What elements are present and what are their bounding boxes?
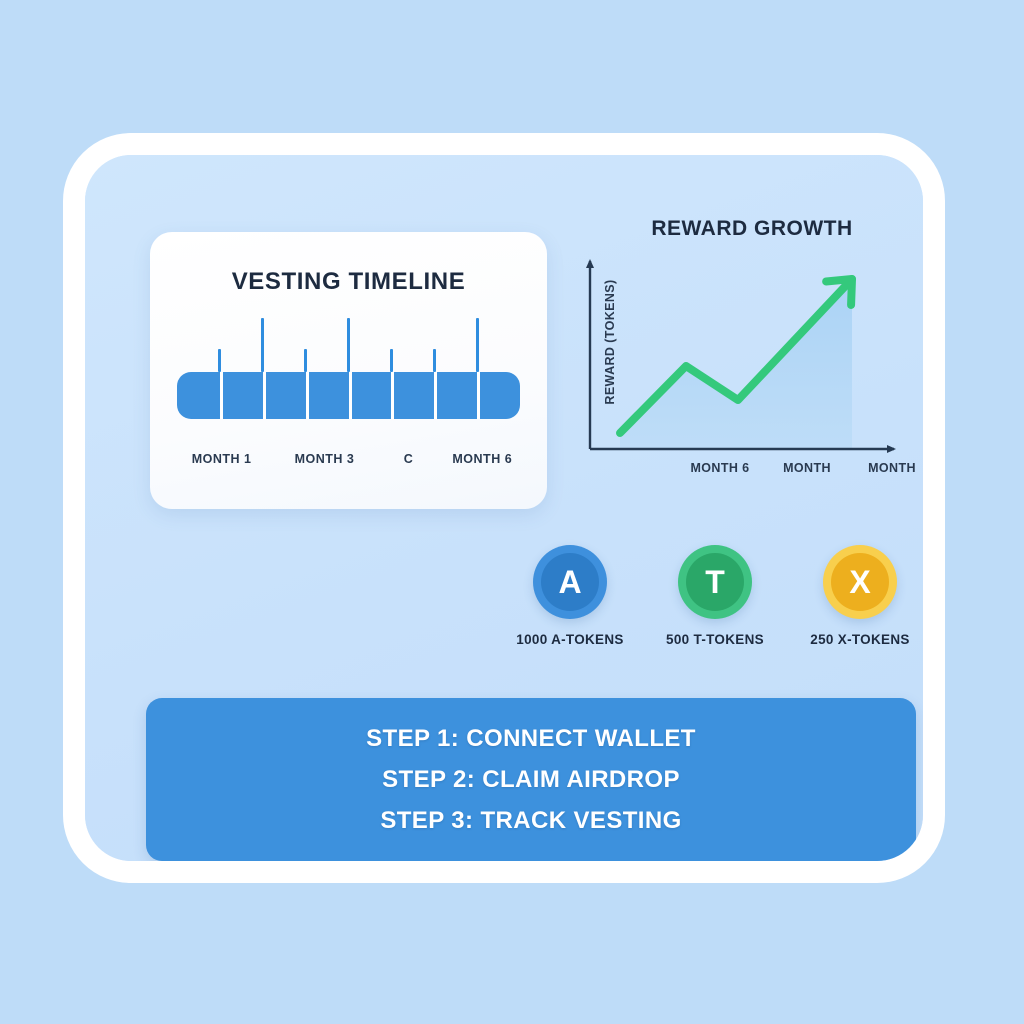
timeline-tick [218,349,221,372]
token-coin-x-icon: X [823,545,897,619]
steps-banner[interactable]: STEP 1: CONNECT WALLETSTEP 2: CLAIM AIRD… [146,698,916,861]
timeline-segment-divider [263,372,266,419]
timeline-tick [390,349,393,372]
timeline-bar [177,372,520,419]
step-line-3: STEP 3: TRACK VESTING [380,800,681,841]
token-glyph: X [831,553,889,611]
token-badge[interactable]: X250 X-TOKENS [790,545,923,647]
token-glyph: T [686,553,744,611]
token-glyph: A [541,553,599,611]
timeline-segment-divider [391,372,394,419]
token-label: 1000 A-TOKENS [516,632,623,647]
chart-x-tick-label: MONTH 6 [690,461,749,475]
vesting-timeline-card: VESTING TIMELINE MONTH 1MONTH 3CMONTH 6 [150,232,547,509]
timeline-month-label: MONTH 1 [192,452,252,466]
timeline-tick [347,318,350,372]
timeline-tick [476,318,479,372]
timeline-tick [261,318,264,372]
reward-growth-chart: REWARD GROWTH REWARD (TOKENS) [572,217,923,507]
vesting-timeline-title: VESTING TIMELINE [150,268,547,296]
token-label: 250 X-TOKENS [810,632,909,647]
chart-x-tick-label: MONTH [783,461,831,475]
timeline-tick [433,349,436,372]
token-badges-row: A1000 A-TOKENST500 T-TOKENSX250 X-TOKENS [500,545,923,647]
timeline-segment-divider [477,372,480,419]
timeline-tick [304,349,307,372]
chart-x-tick-label: MONTH [868,461,916,475]
chart-area-fill [620,279,852,449]
timeline-segment-divider [349,372,352,419]
token-coin-a-icon: A [533,545,607,619]
timeline-month-label: C [404,452,414,466]
timeline-month-label: MONTH 6 [452,452,512,466]
timeline-segment-divider [434,372,437,419]
token-coin-t-icon: T [678,545,752,619]
inner-panel: VESTING TIMELINE MONTH 1MONTH 3CMONTH 6 … [85,155,923,861]
step-line-2: STEP 2: CLAIM AIRDROP [382,759,680,800]
timeline-segment-divider [306,372,309,419]
timeline-segment-divider [220,372,223,419]
timeline-month-label: MONTH 3 [295,452,355,466]
chart-plot-area [572,251,923,481]
chart-title: REWARD GROWTH [572,217,923,241]
step-line-1: STEP 1: CONNECT WALLET [366,718,696,759]
outer-frame: VESTING TIMELINE MONTH 1MONTH 3CMONTH 6 … [63,133,945,883]
vesting-timeline-graphic: MONTH 1MONTH 3CMONTH 6 [177,324,520,474]
token-label: 500 T-TOKENS [666,632,764,647]
token-badge[interactable]: A1000 A-TOKENS [500,545,640,647]
token-badge[interactable]: T500 T-TOKENS [645,545,785,647]
